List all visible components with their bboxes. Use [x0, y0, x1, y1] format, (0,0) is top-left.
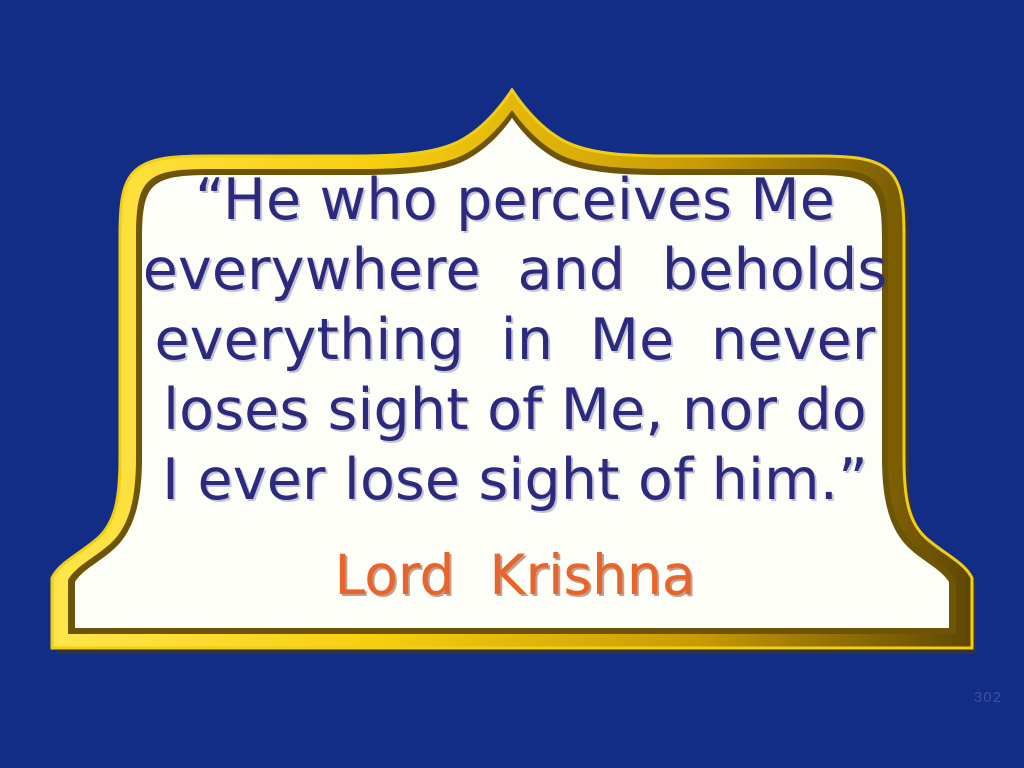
quote-slide: “He who perceives Me everywhere and beho…: [0, 0, 1024, 768]
quote-attribution: Lord Krishna: [90, 543, 940, 607]
page-number: 302: [974, 689, 1002, 706]
quote-line-4: loses sight of Me, nor do: [163, 375, 867, 445]
quote-text-block: “He who perceives Me everywhere and beho…: [90, 165, 940, 525]
quote-line-2: everywhere and beholds: [143, 235, 888, 305]
quote-line-3: everything in Me never: [154, 305, 875, 375]
attribution-text: Lord Krishna: [335, 543, 696, 607]
quote-line-1: “He who perceives Me: [195, 165, 835, 235]
quote-line-5: I ever lose sight of him.”: [162, 445, 868, 515]
